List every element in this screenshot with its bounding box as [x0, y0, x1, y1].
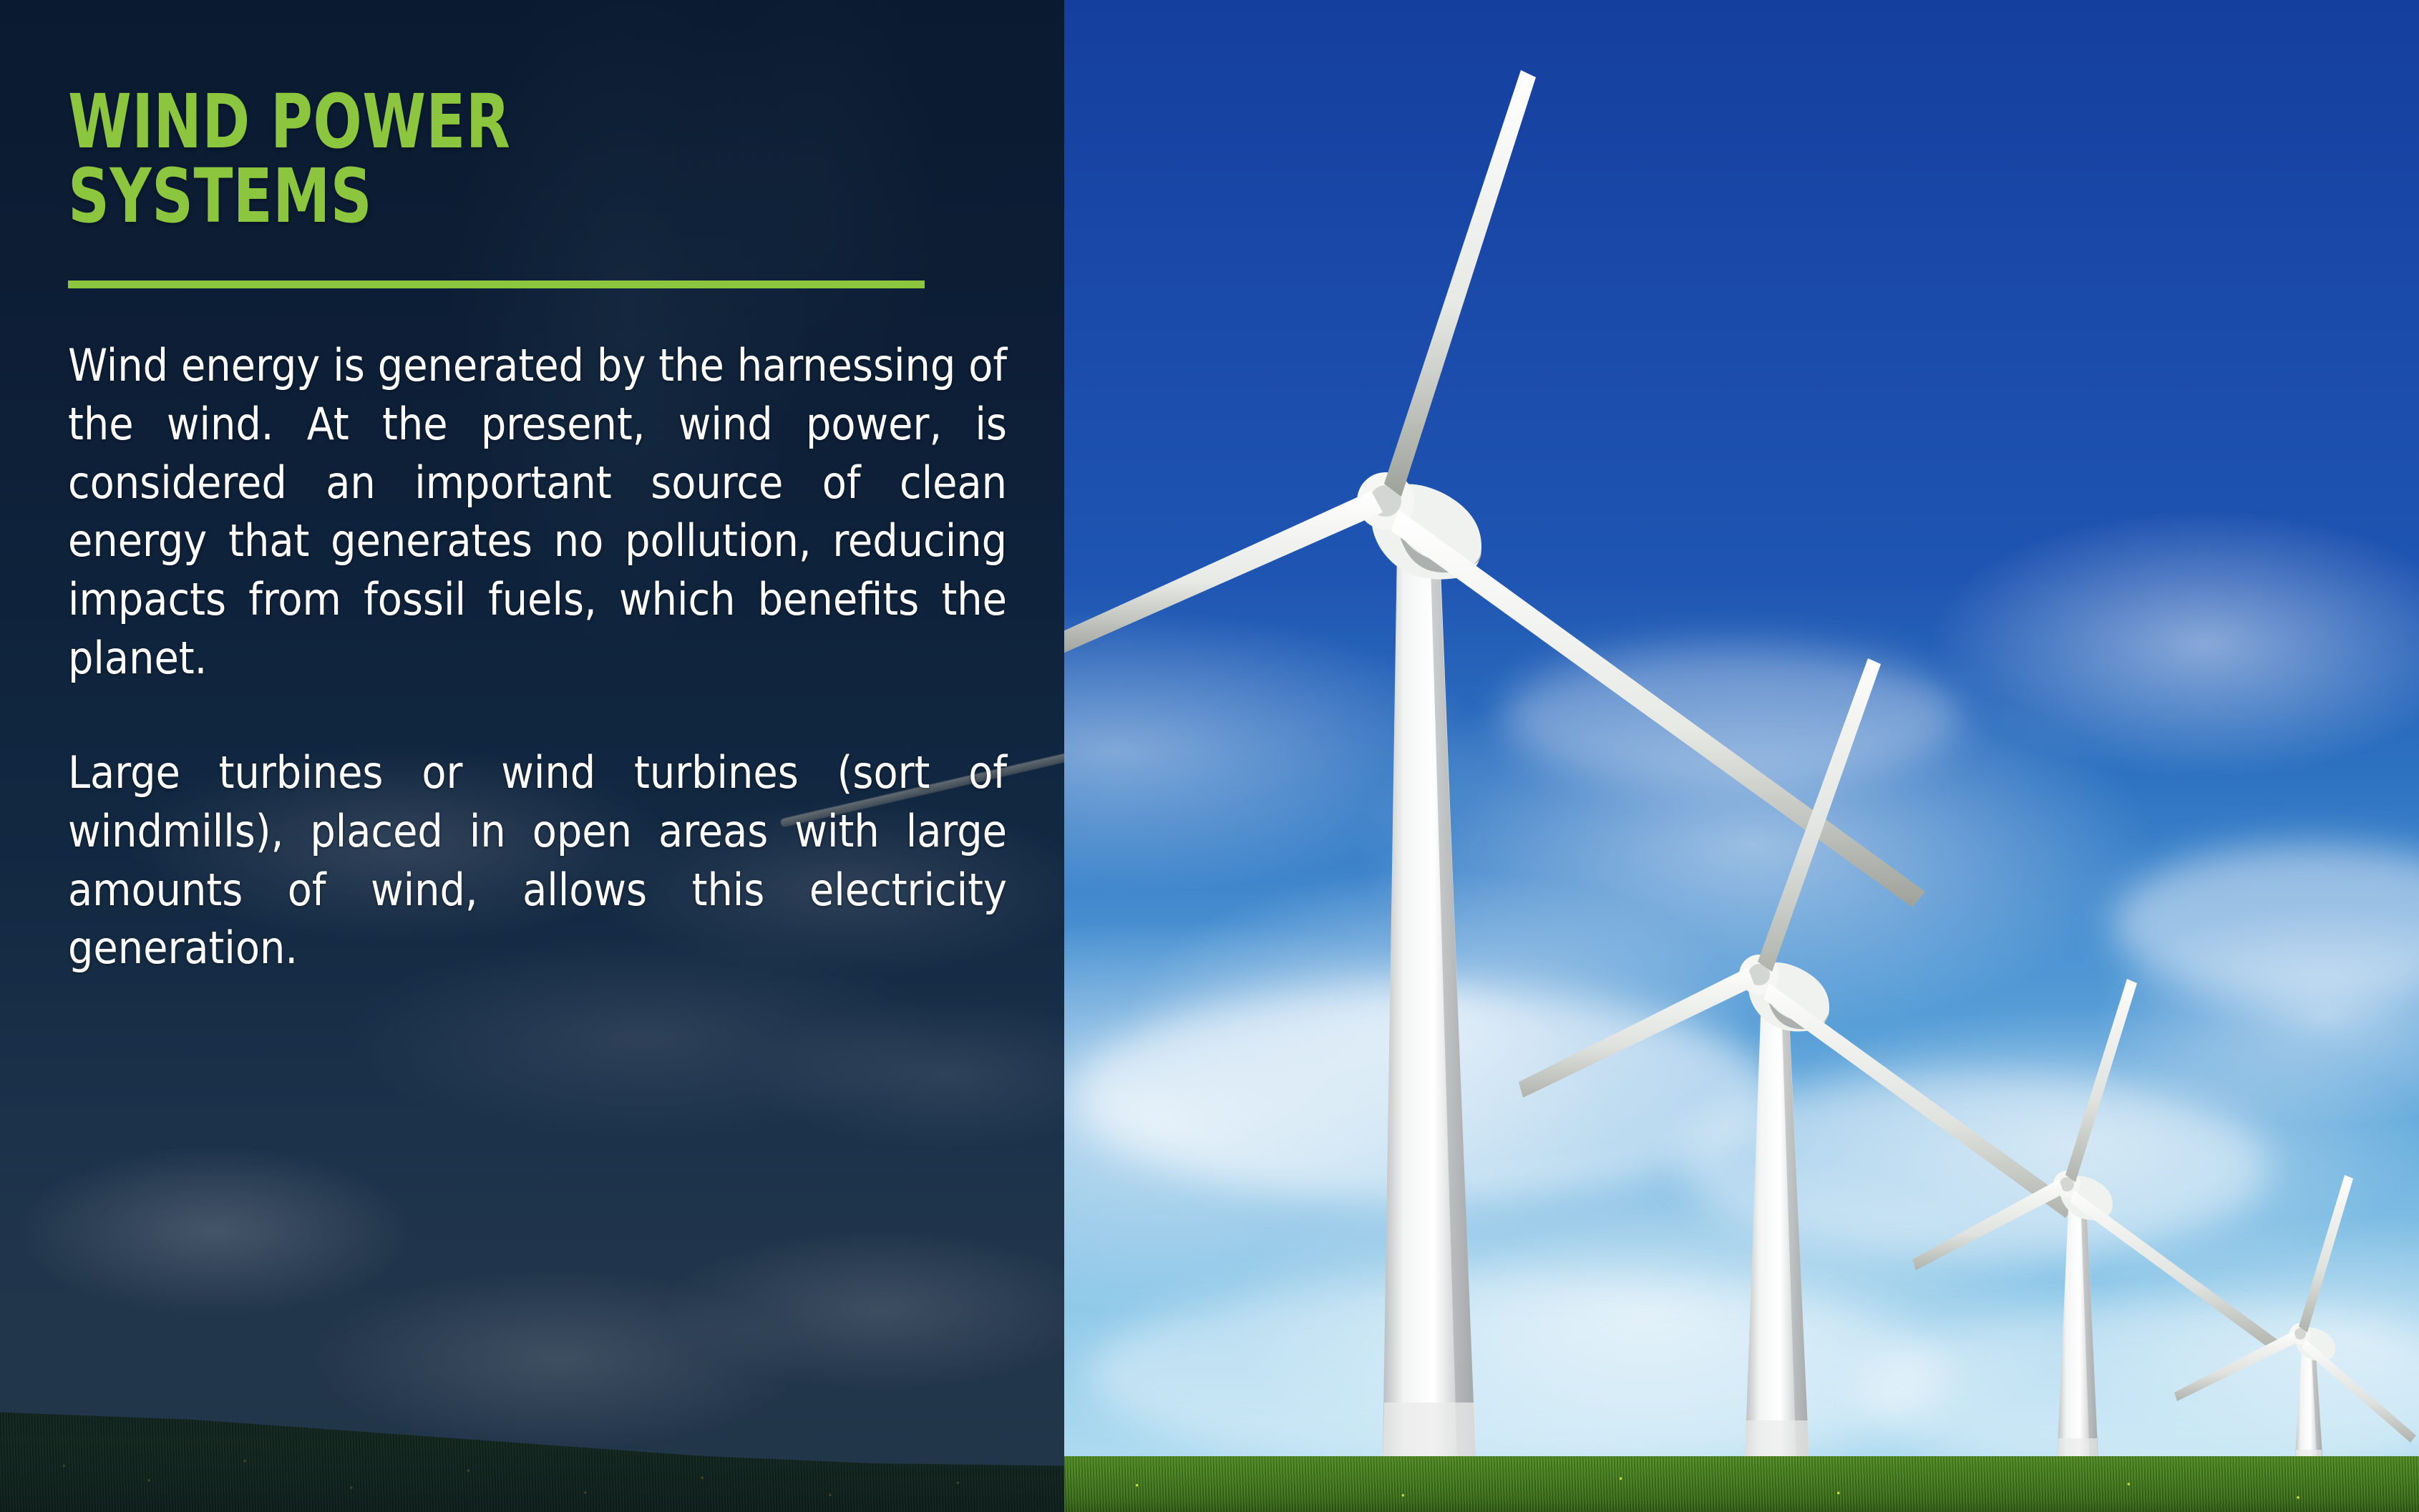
page-title: WIND POWER SYSTEMS [68, 84, 831, 233]
title-divider [68, 281, 925, 288]
paragraph-1: Wind energy is generated by the harnessi… [68, 336, 1007, 688]
wind-turbine-2 [1519, 658, 2075, 1461]
body-text-block: Wind energy is generated by the harnessi… [68, 336, 1007, 977]
paragraph-2: Large turbines or wind turbines (sort of… [68, 743, 1007, 977]
wind-turbine-4 [2174, 1175, 2416, 1467]
wind-turbine-3 [1912, 979, 2277, 1464]
slide-content: WIND POWER SYSTEMS Wind energy is genera… [0, 0, 1064, 1512]
page-title-line-1: WIND POWER [68, 84, 831, 159]
page-title-line-2: SYSTEMS [68, 159, 831, 233]
slide-root: WIND POWER SYSTEMS Wind energy is genera… [0, 0, 2419, 1512]
